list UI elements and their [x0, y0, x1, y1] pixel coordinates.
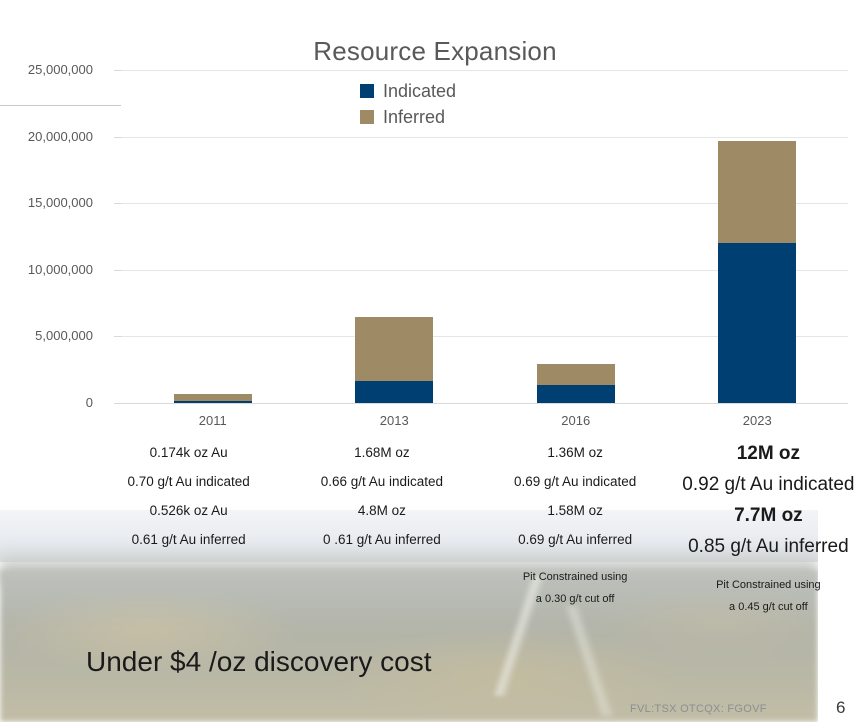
slide-canvas: Resource Expansion Indicated Inferred 05…: [0, 0, 865, 722]
y-axis-tick-mark: [114, 70, 122, 71]
bar-segment-inferred-2023[interactable]: [718, 141, 796, 244]
resource-column-2016: 1.36M oz0.69 g/t Au indicated1.58M oz0.6…: [479, 438, 672, 618]
resource-column-2023: 12M oz0.92 g/t Au indicated7.7M oz0.85 g…: [672, 438, 865, 618]
page-number: 6: [836, 698, 845, 718]
inferred-grade-2013: 0 .61 g/t Au inferred: [285, 525, 478, 554]
chart-baseline-axis: [122, 403, 848, 404]
y-axis-tick-label: 25,000,000: [0, 62, 93, 77]
y-axis-tick-label: 15,000,000: [0, 195, 93, 210]
y-axis-tick-mark: [114, 403, 122, 404]
y-axis-tick-label: 10,000,000: [0, 262, 93, 277]
bar-slot-2016: [485, 364, 667, 403]
indicated-oz-2023: 12M oz: [672, 438, 865, 469]
indicated-oz-2013: 1.68M oz: [285, 438, 478, 467]
x-axis-label-2023: 2023: [667, 413, 849, 428]
bar-segment-inferred-2011[interactable]: [174, 394, 252, 401]
resource-column-2011: 0.174k oz Au0.70 g/t Au indicated0.526k …: [92, 438, 285, 618]
resource-column-2013: 1.68M oz0.66 g/t Au indicated4.8M oz0 .6…: [285, 438, 478, 618]
x-axis-label-2016: 2016: [485, 413, 667, 428]
indicated-grade-2016: 0.69 g/t Au indicated: [479, 467, 672, 496]
inferred-oz-2013: 4.8M oz: [285, 496, 478, 525]
stacked-bar-2011[interactable]: [174, 394, 252, 403]
x-axis-label-2011: 2011: [122, 413, 304, 428]
y-axis-tick-mark: [114, 336, 122, 337]
bar-segment-indicated-2023[interactable]: [718, 243, 796, 403]
indicated-oz-2016: 1.36M oz: [479, 438, 672, 467]
pit-note-line-1-2023: Pit Constrained using: [672, 574, 865, 596]
inferred-oz-2023: 7.7M oz: [672, 500, 865, 531]
stock-ticker-footer: FVL:TSX OTCQX: FGOVF: [630, 703, 767, 715]
y-axis-tick-label: 20,000,000: [0, 129, 93, 144]
pit-constraint-note-2023: Pit Constrained usinga 0.45 g/t cut off: [672, 574, 865, 618]
indicated-oz-2011: 0.174k oz Au: [92, 438, 285, 467]
bar-segment-indicated-2016[interactable]: [537, 385, 615, 403]
x-axis-label-2013: 2013: [304, 413, 486, 428]
pit-note-line-2-2023: a 0.45 g/t cut off: [672, 596, 865, 618]
inferred-grade-2011: 0.61 g/t Au inferred: [92, 525, 285, 554]
bar-slot-2013: [304, 317, 486, 403]
indicated-grade-2011: 0.70 g/t Au indicated: [92, 467, 285, 496]
bar-slot-2011: [122, 394, 304, 403]
y-axis-tick-label: 0: [0, 395, 93, 410]
inferred-oz-2011: 0.526k oz Au: [92, 496, 285, 525]
bar-segment-indicated-2013[interactable]: [355, 381, 433, 403]
resource-detail-columns: 0.174k oz Au0.70 g/t Au indicated0.526k …: [92, 438, 865, 618]
chart-x-axis-labels: 2011201320162023: [122, 413, 848, 428]
pit-constraint-note-2016: Pit Constrained usinga 0.30 g/t cut off: [479, 566, 672, 610]
chart-plot-area: 05,000,00010,000,00015,000,00020,000,000…: [122, 70, 848, 404]
discovery-cost-tagline: Under $4 /oz discovery cost: [86, 646, 432, 678]
indicated-grade-2023: 0.92 g/t Au indicated: [672, 469, 865, 500]
header-divider-rule: [0, 105, 121, 106]
pit-note-line-2-2016: a 0.30 g/t cut off: [479, 588, 672, 610]
bar-segment-inferred-2016[interactable]: [537, 364, 615, 385]
inferred-oz-2016: 1.58M oz: [479, 496, 672, 525]
indicated-grade-2013: 0.66 g/t Au indicated: [285, 467, 478, 496]
inferred-grade-2016: 0.69 g/t Au inferred: [479, 525, 672, 554]
y-axis-tick-mark: [114, 270, 122, 271]
resource-expansion-chart: Resource Expansion Indicated Inferred 05…: [0, 0, 865, 440]
y-axis-tick-mark: [114, 137, 122, 138]
chart-title: Resource Expansion: [240, 36, 630, 67]
inferred-grade-2023: 0.85 g/t Au inferred: [672, 531, 865, 562]
bar-slot-2023: [667, 141, 849, 403]
pit-note-line-1-2016: Pit Constrained using: [479, 566, 672, 588]
y-axis-tick-mark: [114, 203, 122, 204]
chart-bar-group: [122, 70, 848, 403]
y-axis-tick-label: 5,000,000: [0, 328, 93, 343]
stacked-bar-2016[interactable]: [537, 364, 615, 403]
bar-segment-indicated-2011[interactable]: [174, 401, 252, 403]
bar-segment-inferred-2013[interactable]: [355, 317, 433, 381]
stacked-bar-2013[interactable]: [355, 317, 433, 403]
stacked-bar-2023[interactable]: [718, 141, 796, 403]
